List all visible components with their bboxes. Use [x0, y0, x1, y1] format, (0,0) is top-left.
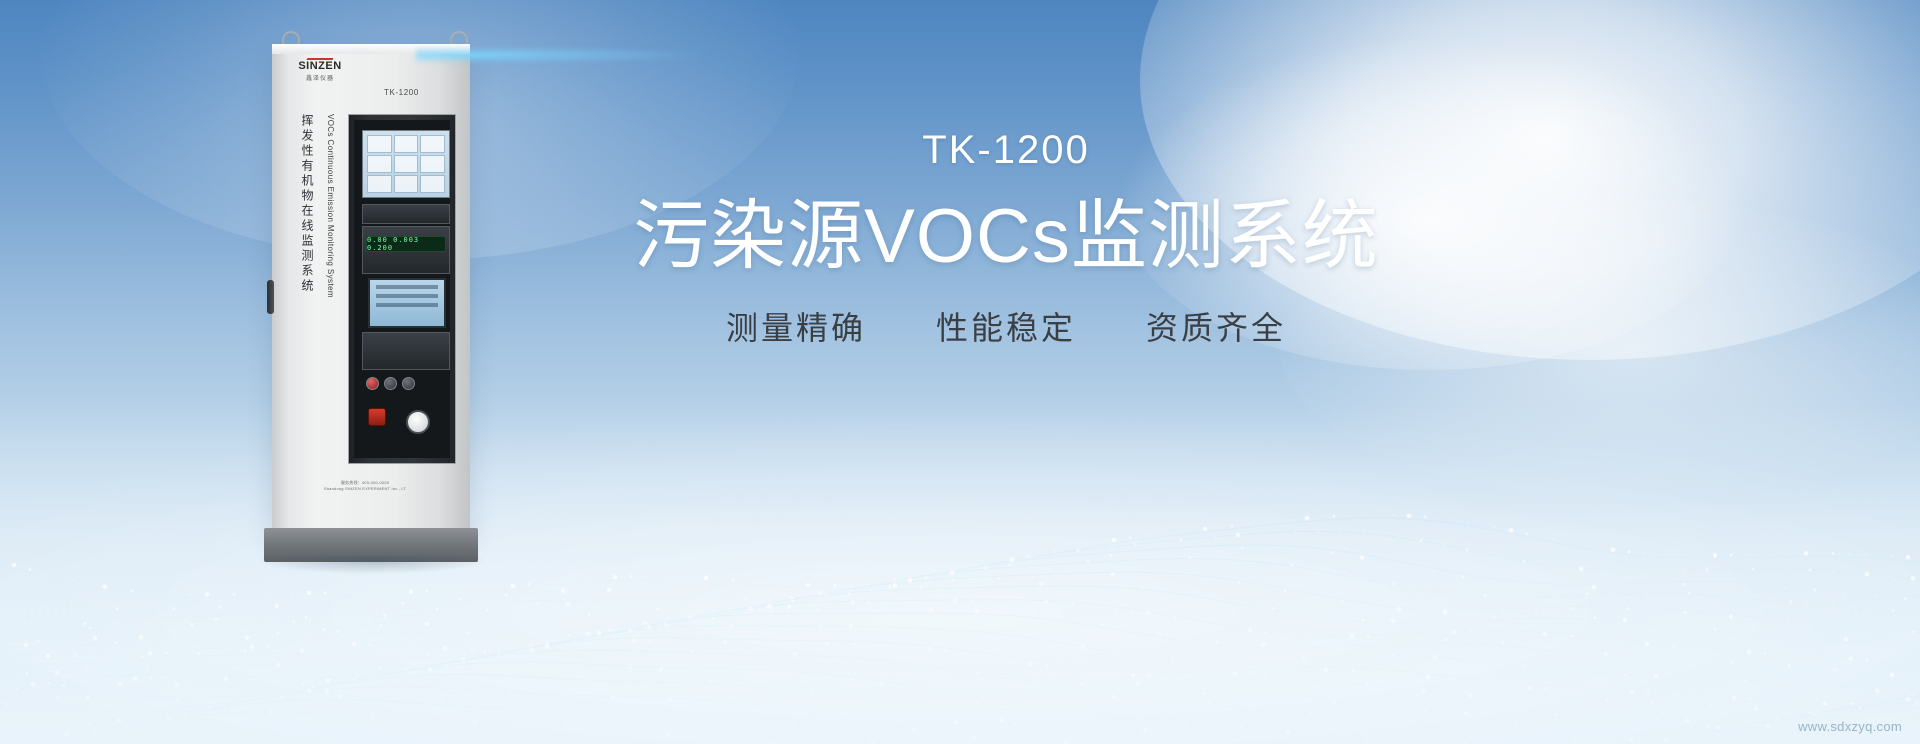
control-knob [384, 377, 397, 390]
hmi-screen-cell [394, 175, 419, 193]
analyzer-lcd-panel [368, 278, 446, 328]
cabinet-vertical-english-text: VOCs Continuous Emission Monitoring Syst… [320, 114, 334, 298]
hmi-screen-cell [420, 175, 445, 193]
hmi-screen-cell [367, 155, 392, 173]
pressure-gauge [406, 410, 430, 434]
hmi-touch-screen [362, 130, 450, 198]
feature-item-2: 性能稳定 [936, 312, 1076, 344]
cabinet-vertical-chinese-text: 挥发性有机物在线监测系统 [294, 114, 316, 294]
cabinet-model-label: TK-1200 [384, 88, 419, 97]
banner-copy: TK-1200 污染源VOCs监测系统 测量精确性能稳定资质齐全 [556, 130, 1456, 344]
product-model: TK-1200 [556, 130, 1456, 170]
brand-logo: SINZEN 鑫泽仪器 [288, 58, 352, 82]
control-knob-row [366, 374, 444, 392]
hmi-screen-cell [420, 155, 445, 173]
hmi-screen-cell [394, 155, 419, 173]
emergency-stop-button [368, 408, 386, 426]
logo-accent-bar [306, 58, 333, 60]
door-interior: 0.00 0.003 0.200 [354, 120, 450, 458]
brand-logo-subtext: 鑫泽仪器 [288, 73, 352, 82]
lcd-trace-line [376, 303, 438, 307]
hmi-screen-cell [367, 135, 392, 153]
product-banner: SINZEN 鑫泽仪器 TK-1200 挥发性有机物在线监测系统 VOCs Co… [0, 0, 1920, 744]
power-knob [366, 377, 379, 390]
cabinet-door-handle [267, 280, 274, 314]
cabinet-footer-line-2: Shandong SINZEN EXPERIMENT Inc., LT [290, 486, 440, 492]
feature-list: 测量精确性能稳定资质齐全 [556, 312, 1456, 344]
cabinet-footer-text: 服务热线：400-000-0000 Shandong SINZEN EXPERI… [290, 480, 440, 493]
led-readout: 0.00 0.003 0.200 [366, 236, 446, 252]
instrument-module-3 [362, 332, 450, 370]
hmi-screen-grid [367, 135, 445, 193]
hmi-screen-cell [367, 175, 392, 193]
brand-logo-text: SINZEN [288, 61, 352, 72]
hmi-screen-cell [420, 135, 445, 153]
instrument-cabinet: SINZEN 鑫泽仪器 TK-1200 挥发性有机物在线监测系统 VOCs Co… [264, 28, 478, 550]
feature-item-3: 资质齐全 [1146, 312, 1286, 344]
cabinet-ground-shadow [258, 556, 486, 574]
light-streak [416, 46, 716, 64]
lcd-trace-line [376, 294, 438, 298]
hmi-screen-cell [394, 135, 419, 153]
feature-item-1: 测量精确 [726, 312, 866, 344]
control-knob [402, 377, 415, 390]
site-watermark: www.sdxzyq.com [1798, 719, 1902, 734]
instrument-module-1 [362, 204, 450, 224]
banner-headline: 污染源VOCs监测系统 [556, 196, 1456, 278]
cabinet-door-window: 0.00 0.003 0.200 [348, 114, 456, 464]
lcd-trace-line [376, 285, 438, 289]
